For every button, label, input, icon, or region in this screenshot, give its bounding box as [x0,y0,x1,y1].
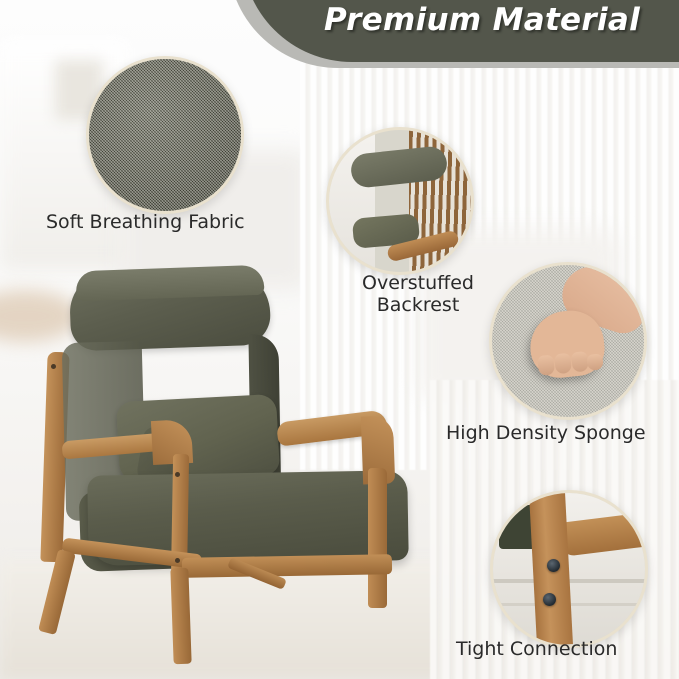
callout-high-density-sponge[interactable] [489,262,647,420]
product-chair-image [22,268,442,668]
callout-overstuffed-backrest[interactable] [326,127,474,275]
joint-bolt-lower-icon [543,593,556,606]
callout-fabric-swatch[interactable] [86,56,244,214]
callout-tight-connection[interactable] [490,490,648,648]
header-banner: Premium Material [228,0,679,82]
caption-overstuffed-backrest: Overstuffed Backrest [318,272,518,317]
knuckle-2 [554,353,572,375]
chair-screw-1 [51,364,56,369]
chair-leg-left-front [38,549,76,635]
knuckle-1 [537,355,555,377]
infographic-canvas: Premium Material Soft Breathing Fabric [0,0,679,679]
page-title: Premium Material [324,2,679,38]
chair-screw-3 [175,558,180,563]
chair-leg-right-front [368,468,387,608]
joint-bolt-upper-icon [547,559,560,572]
chair-rail-front [182,554,392,578]
chair-leg-mid [170,568,191,665]
caption-soft-breathing-fabric: Soft Breathing Fabric [46,211,346,233]
fabric-texture-icon [89,59,241,211]
caption-tight-connection: Tight Connection [456,638,679,660]
chair-screw-2 [175,472,180,477]
caption-high-density-sponge: High Density Sponge [446,422,676,444]
